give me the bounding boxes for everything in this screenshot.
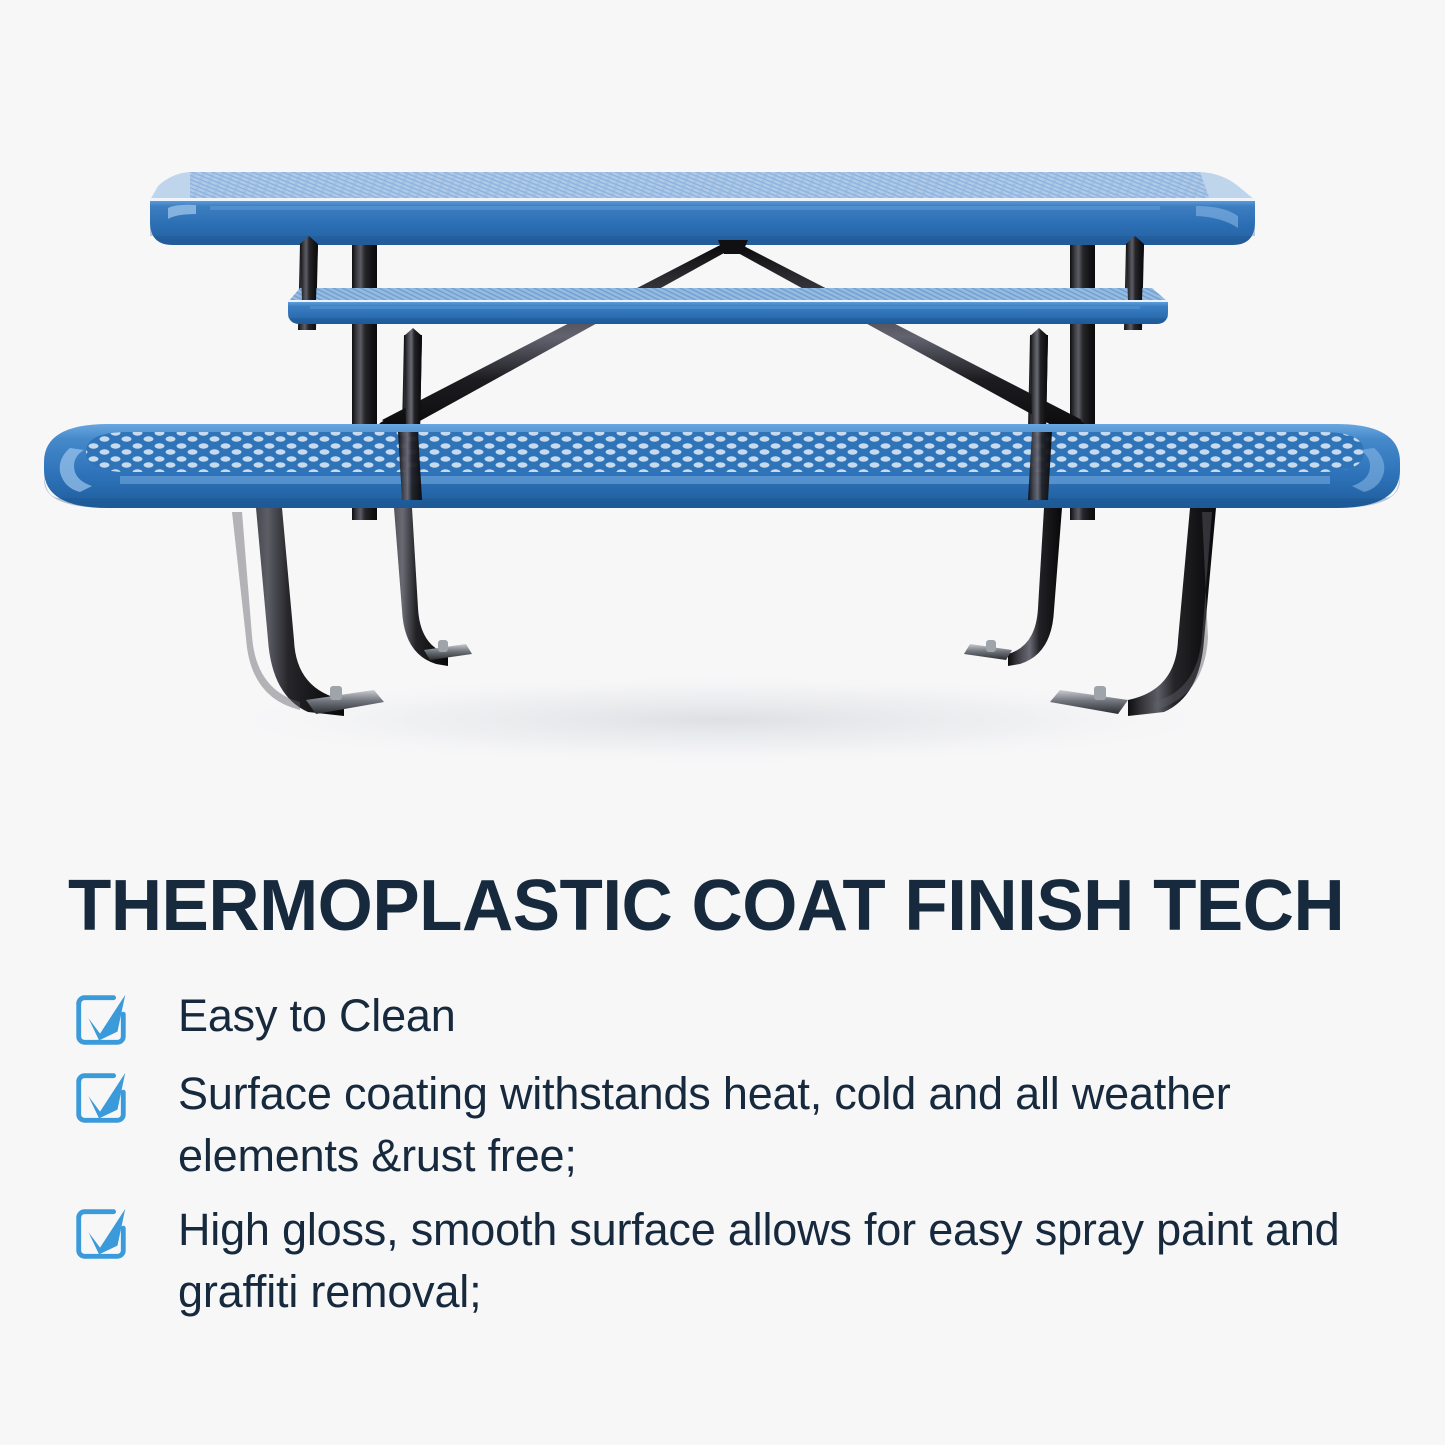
checkbox-checked-icon: [70, 1063, 178, 1129]
feature-label: Surface coating withstands heat, cold an…: [178, 1063, 1420, 1187]
feature-item: Surface coating withstands heat, cold an…: [70, 1063, 1420, 1187]
feature-item: High gloss, smooth surface allows for ea…: [70, 1199, 1420, 1323]
feature-label: Easy to Clean: [178, 985, 1420, 1047]
feature-label: High gloss, smooth surface allows for ea…: [178, 1199, 1420, 1323]
checkbox-checked-icon: [70, 1199, 178, 1265]
feature-list: Easy to Clean Surface coating withstands…: [70, 985, 1420, 1335]
product-image: [0, 0, 1445, 840]
front-bench-seat: [44, 424, 1400, 508]
table-top: [150, 172, 1255, 245]
product-marketing-page: THERMOPLASTIC COAT FINISH TECH Easy to C…: [0, 0, 1445, 1445]
page-title: THERMOPLASTIC COAT FINISH TECH: [68, 870, 1378, 942]
marketing-copy: THERMOPLASTIC COAT FINISH TECH Easy to C…: [0, 845, 1445, 1445]
rear-bench-seat: [288, 288, 1168, 324]
feature-item: Easy to Clean: [70, 985, 1420, 1051]
checkbox-checked-icon: [70, 985, 178, 1051]
picnic-table-illustration: [0, 0, 1445, 840]
ground-shadow: [200, 674, 1240, 766]
